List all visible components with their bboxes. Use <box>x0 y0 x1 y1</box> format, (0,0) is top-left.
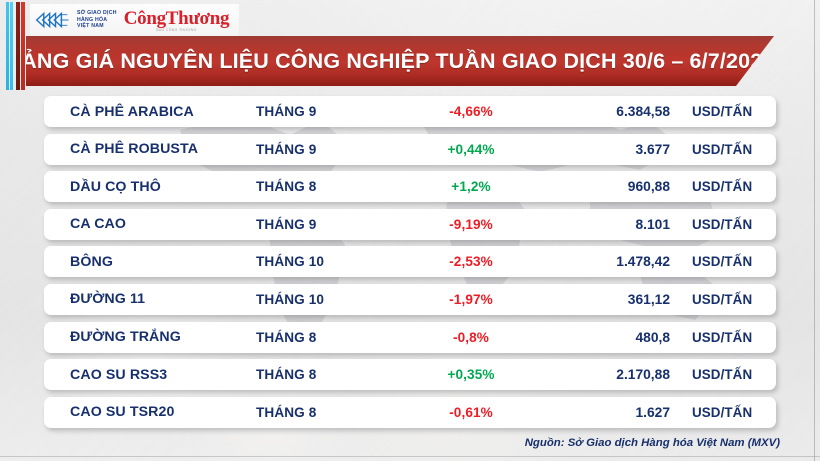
commodity-name: ĐƯỜNG TRẮNG <box>44 329 256 345</box>
price-change: -2,53% <box>396 254 546 269</box>
price-value: 361,12 <box>546 292 670 307</box>
price-unit: USD/TẤN <box>670 142 776 157</box>
commodity-name: CAO SU TSR20 <box>44 404 256 420</box>
price-unit: USD/TẤN <box>670 367 776 382</box>
source-note: Nguồn: Sở Giao dịch Hàng hóa Việt Nam (M… <box>525 437 780 449</box>
table-row: CAO SU TSR20THÁNG 8-0,61%1.627USD/TẤN <box>44 397 776 428</box>
price-unit: USD/TẤN <box>670 330 776 345</box>
price-value: 1.478,42 <box>546 254 670 269</box>
price-unit: USD/TẤN <box>670 104 776 119</box>
price-unit: USD/TẤN <box>670 405 776 420</box>
price-value: 3.677 <box>546 142 670 157</box>
price-change: -1,97% <box>396 292 546 307</box>
contract-month: THÁNG 8 <box>256 367 396 382</box>
price-value: 2.170,88 <box>546 367 670 382</box>
price-change: -0,61% <box>396 405 546 420</box>
accent-stripe-cyan-1 <box>6 2 9 90</box>
contract-month: THÁNG 9 <box>256 217 396 232</box>
table-row: CÀ PHÊ ROBUSTATHÁNG 9+0,44%3.677USD/TẤN <box>44 134 776 165</box>
price-change: -0,8% <box>396 330 546 345</box>
title-banner: BẢNG GIÁ NGUYÊN LIỆU CÔNG NGHIỆP TUẦN GI… <box>26 36 774 86</box>
contract-month: THÁNG 9 <box>256 104 396 119</box>
accent-stripe-cyan-2 <box>10 2 13 90</box>
mxv-logo-icon <box>34 10 70 30</box>
price-unit: USD/TẤN <box>670 254 776 269</box>
accent-stripe-maroon <box>16 2 20 90</box>
mxv-wordmark: SỞ GIAO DỊCH HÀNG HÓA VIỆT NAM <box>77 10 117 29</box>
price-unit: USD/TẤN <box>670 292 776 307</box>
commodity-name: CA CAO <box>44 216 256 232</box>
contract-month: THÁNG 9 <box>256 142 396 157</box>
price-value: 960,88 <box>546 179 670 194</box>
price-value: 1.627 <box>546 405 670 420</box>
accent-stripe-red <box>21 2 25 90</box>
price-change: -9,19% <box>396 217 546 232</box>
commodity-name: CÀ PHÊ ARABICA <box>44 104 256 120</box>
contract-month: THÁNG 8 <box>256 405 396 420</box>
price-change: +1,2% <box>396 179 546 194</box>
contract-month: THÁNG 8 <box>256 179 396 194</box>
logo-bar: SỞ GIAO DỊCH HÀNG HÓA VIỆT NAM CôngThươn… <box>30 4 239 36</box>
congthuong-logo: CôngThương BÁO CÔNG THƯƠNG <box>124 9 230 32</box>
contract-month: THÁNG 8 <box>256 330 396 345</box>
table-row: BÔNGTHÁNG 10-2,53%1.478,42USD/TẤN <box>44 246 776 277</box>
price-change: +0,35% <box>396 367 546 382</box>
price-value: 6.384,58 <box>546 104 670 119</box>
congthuong-wordmark: CôngThương <box>124 9 230 29</box>
table-row: CAO SU RSS3THÁNG 8+0,35%2.170,88USD/TẤN <box>44 359 776 390</box>
mxv-line-3: VIỆT NAM <box>77 23 117 29</box>
commodity-name: CÀ PHÊ ROBUSTA <box>44 141 256 157</box>
page-title: BẢNG GIÁ NGUYÊN LIỆU CÔNG NGHIỆP TUẦN GI… <box>6 49 775 74</box>
table-row: ĐƯỜNG 11THÁNG 10-1,97%361,12USD/TẤN <box>44 284 776 315</box>
commodity-name: DẦU CỌ THÔ <box>44 179 256 195</box>
commodity-name: BÔNG <box>44 254 256 270</box>
commodity-name: ĐƯỜNG 11 <box>44 291 256 307</box>
price-unit: USD/TẤN <box>670 179 776 194</box>
price-value: 480,8 <box>546 330 670 345</box>
price-value: 8.101 <box>546 217 670 232</box>
frame-border-right <box>814 0 815 461</box>
commodity-name: CAO SU RSS3 <box>44 367 256 383</box>
contract-month: THÁNG 10 <box>256 254 396 269</box>
mxv-line-1: SỞ GIAO DỊCH <box>77 10 117 16</box>
table-row: CA CAOTHÁNG 9-9,19%8.101USD/TẤN <box>44 209 776 240</box>
table-row: ĐƯỜNG TRẮNGTHÁNG 8-0,8%480,8USD/TẤN <box>44 322 776 353</box>
price-change: -4,66% <box>396 104 546 119</box>
contract-month: THÁNG 10 <box>256 292 396 307</box>
table-row: CÀ PHÊ ARABICATHÁNG 9-4,66%6.384,58USD/T… <box>44 96 776 127</box>
price-change: +0,44% <box>396 142 546 157</box>
infographic-canvas: SỞ GIAO DỊCH HÀNG HÓA VIỆT NAM CôngThươn… <box>0 0 820 461</box>
table-row: DẦU CỌ THÔTHÁNG 8+1,2%960,88USD/TẤN <box>44 171 776 202</box>
price-unit: USD/TẤN <box>670 217 776 232</box>
price-table: CÀ PHÊ ARABICATHÁNG 9-4,66%6.384,58USD/T… <box>44 96 776 434</box>
frame-border-bottom <box>0 456 820 457</box>
